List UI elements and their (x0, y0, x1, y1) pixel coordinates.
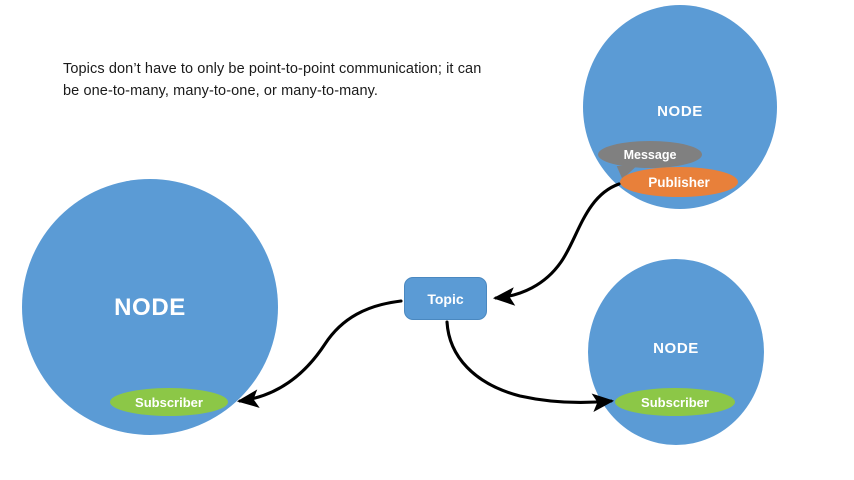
message-callout[interactable]: Message (598, 141, 702, 168)
topic-box[interactable]: Topic (404, 277, 487, 320)
node-label-left: NODE (22, 294, 278, 322)
edge-topic-to-subscriber-right (447, 322, 611, 402)
subscriber-label-left: Subscriber (135, 395, 203, 410)
node-label-bottom-right: NODE (588, 340, 764, 357)
caption-text: Topics don’t have to only be point-to-po… (63, 58, 483, 103)
subscriber-pill-left[interactable]: Subscriber (110, 388, 228, 416)
edge-publisher-to-topic (496, 184, 619, 298)
publisher-label: Publisher (648, 175, 710, 190)
topic-label: Topic (427, 291, 463, 307)
publisher-pill[interactable]: Publisher (620, 167, 738, 197)
subscriber-label-right: Subscriber (641, 395, 709, 410)
slide-canvas: Topics don’t have to only be point-to-po… (0, 0, 854, 480)
node-label-top-right: NODE (583, 103, 777, 120)
subscriber-pill-right[interactable]: Subscriber (615, 388, 735, 416)
message-label: Message (624, 148, 677, 162)
